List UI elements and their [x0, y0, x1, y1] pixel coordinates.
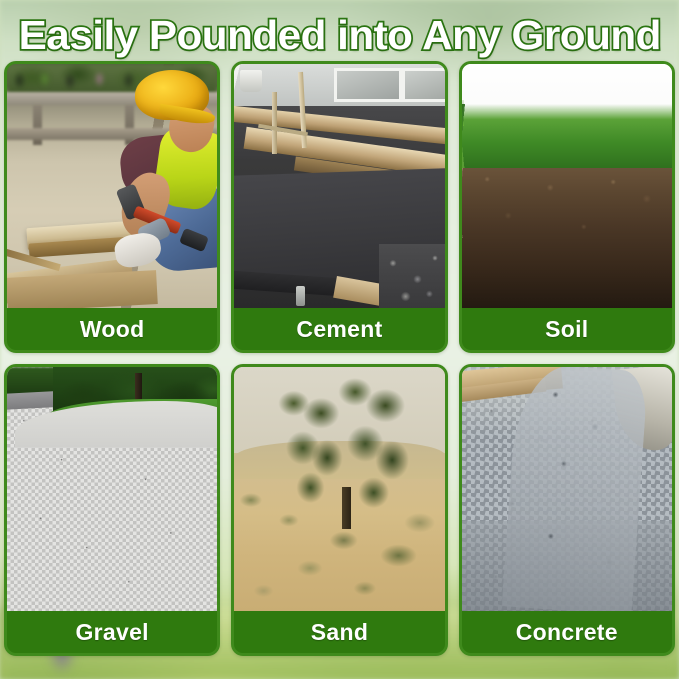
card-sand[interactable]: Sand — [231, 364, 447, 656]
desert-sand-with-tree-photo — [234, 367, 444, 611]
card-label-concrete: Concrete — [516, 619, 618, 646]
grass-blade-tips — [462, 100, 672, 126]
card-label-wood: Wood — [80, 316, 145, 343]
card-label-sand: Sand — [311, 619, 368, 646]
label-bar-concrete: Concrete — [462, 611, 672, 653]
gravel-driveway-photo — [7, 367, 217, 611]
worker-hammering-into-wood-photo — [7, 64, 217, 308]
card-concrete[interactable]: Concrete — [459, 364, 675, 656]
card-label-cement: Cement — [296, 316, 382, 343]
card-wood[interactable]: Wood — [4, 61, 220, 353]
gravel-curve — [15, 401, 217, 447]
card-cement[interactable]: Cement — [231, 61, 447, 353]
card-soil[interactable]: Soil — [459, 61, 675, 353]
label-bar-gravel: Gravel — [7, 611, 217, 653]
desert-scrub — [234, 485, 444, 611]
window-frame — [402, 68, 444, 102]
ground-types-grid: Wood Cement — [4, 61, 675, 673]
window-frame — [334, 68, 402, 102]
card-label-gravel: Gravel — [75, 619, 148, 646]
wet-cement-slab-photo — [234, 64, 444, 308]
label-bar-cement: Cement — [234, 308, 444, 350]
grass-and-soil-cross-section-photo — [462, 64, 672, 308]
bucket — [240, 70, 262, 92]
label-bar-wood: Wood — [7, 308, 217, 350]
card-label-soil: Soil — [545, 316, 588, 343]
page-title: Easily Pounded into Any Ground — [18, 12, 660, 58]
metal-clip — [296, 286, 305, 306]
label-bar-sand: Sand — [234, 611, 444, 653]
wooden-stake — [272, 92, 277, 154]
page-header: Easily Pounded into Any Ground — [0, 12, 679, 58]
card-gravel[interactable]: Gravel — [4, 364, 220, 656]
root-layer — [462, 168, 672, 238]
wood-plank — [7, 270, 158, 308]
pouring-concrete-photo — [462, 367, 672, 611]
label-bar-soil: Soil — [462, 308, 672, 350]
gravel-edge — [379, 244, 445, 308]
